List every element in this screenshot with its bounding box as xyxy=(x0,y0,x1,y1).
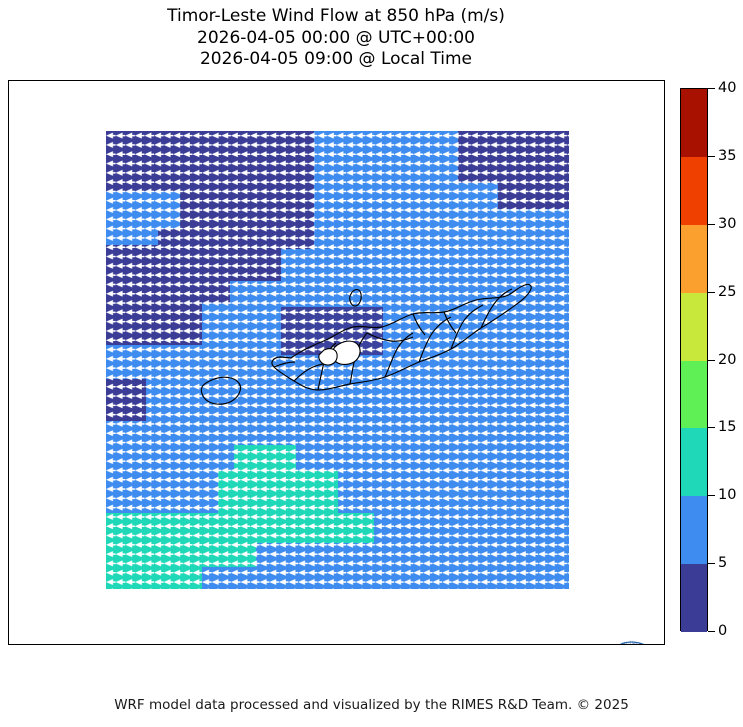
map-plot-frame: Regional Integrated Multi-Hazard Early W… xyxy=(8,80,665,645)
colorbar-tick-35 xyxy=(708,156,715,157)
colorbar-tick-30 xyxy=(708,224,715,225)
colorbar-band-10-15 xyxy=(681,428,707,496)
colorbar-tick-0 xyxy=(708,631,715,632)
colorbar-tick-10 xyxy=(708,495,715,496)
title-local-time: 2026-04-05 09:00 @ Local Time xyxy=(0,49,672,71)
colorbar-tick-label-15: 15 xyxy=(718,419,736,435)
colorbar-tick-20 xyxy=(708,360,715,361)
svg-text:Regional Integrated Multi-Haza: Regional Integrated Multi-Hazard Early W… xyxy=(596,634,663,645)
colorbar-band-5-10 xyxy=(681,496,707,564)
speed-band-patch-teal-tongue2 xyxy=(234,445,296,475)
colorbar-band-30-35 xyxy=(681,157,707,225)
colorbar-tick-label-35: 35 xyxy=(718,148,736,164)
colorbar-tick-label-40: 40 xyxy=(718,80,736,96)
colorbar-band-15-20 xyxy=(681,361,707,429)
rimes-logo: Regional Integrated Multi-Hazard Early W… xyxy=(596,634,665,645)
speed-band-patch-teal-jet3 xyxy=(106,567,202,589)
speed-band-patch-teal-tongue xyxy=(218,471,338,515)
speed-band-patch-blue-inlet xyxy=(106,191,180,229)
speed-band-patch-indigo-central xyxy=(281,307,383,355)
speed-band-patch-teal-jet xyxy=(106,513,374,543)
colorbar-tick-25 xyxy=(708,292,715,293)
colorbar-band-0-5 xyxy=(681,564,707,632)
logo-ring-text: Regional Integrated Multi-Hazard Early W… xyxy=(596,634,663,645)
speed-band-patch-indigo-ne2 xyxy=(498,131,569,209)
colorbar-band-25-30 xyxy=(681,225,707,293)
chart-title-block: Timor-Leste Wind Flow at 850 hPa (m/s) 2… xyxy=(0,6,672,71)
colorbar-tick-15 xyxy=(708,427,715,428)
colorbar-gradient xyxy=(680,88,708,631)
colorbar-tick-label-20: 20 xyxy=(718,352,736,368)
speed-band-patch-indigo-nw4 xyxy=(106,281,202,345)
wind-speed-map[interactable] xyxy=(106,131,569,589)
page-title: Timor-Leste Wind Flow at 850 hPa (m/s) xyxy=(0,6,672,28)
colorbar-tick-label-0: 0 xyxy=(718,623,727,639)
colorbar-tick-label-10: 10 xyxy=(718,487,736,503)
colorbar-tick-label-30: 30 xyxy=(718,216,736,232)
colorbar-tick-label-5: 5 xyxy=(718,555,727,571)
title-utc-time: 2026-04-05 00:00 @ UTC+00:00 xyxy=(0,28,672,50)
colorbar-band-35-40 xyxy=(681,89,707,157)
colorbar-tick-40 xyxy=(708,88,715,89)
footer-credit: WRF model data processed and visualized … xyxy=(0,697,743,713)
colorbar-band-20-25 xyxy=(681,293,707,361)
speed-band-patch-blue-inlet2 xyxy=(106,229,158,245)
colorbar-tick-label-25: 25 xyxy=(718,284,736,300)
speed-band-patch-teal-jet2 xyxy=(106,543,256,567)
colorbar-tick-5 xyxy=(708,563,715,564)
colorbar[interactable]: 0510152025303540 xyxy=(680,88,743,633)
speed-band-patch-indigo-westpocket xyxy=(106,379,146,421)
